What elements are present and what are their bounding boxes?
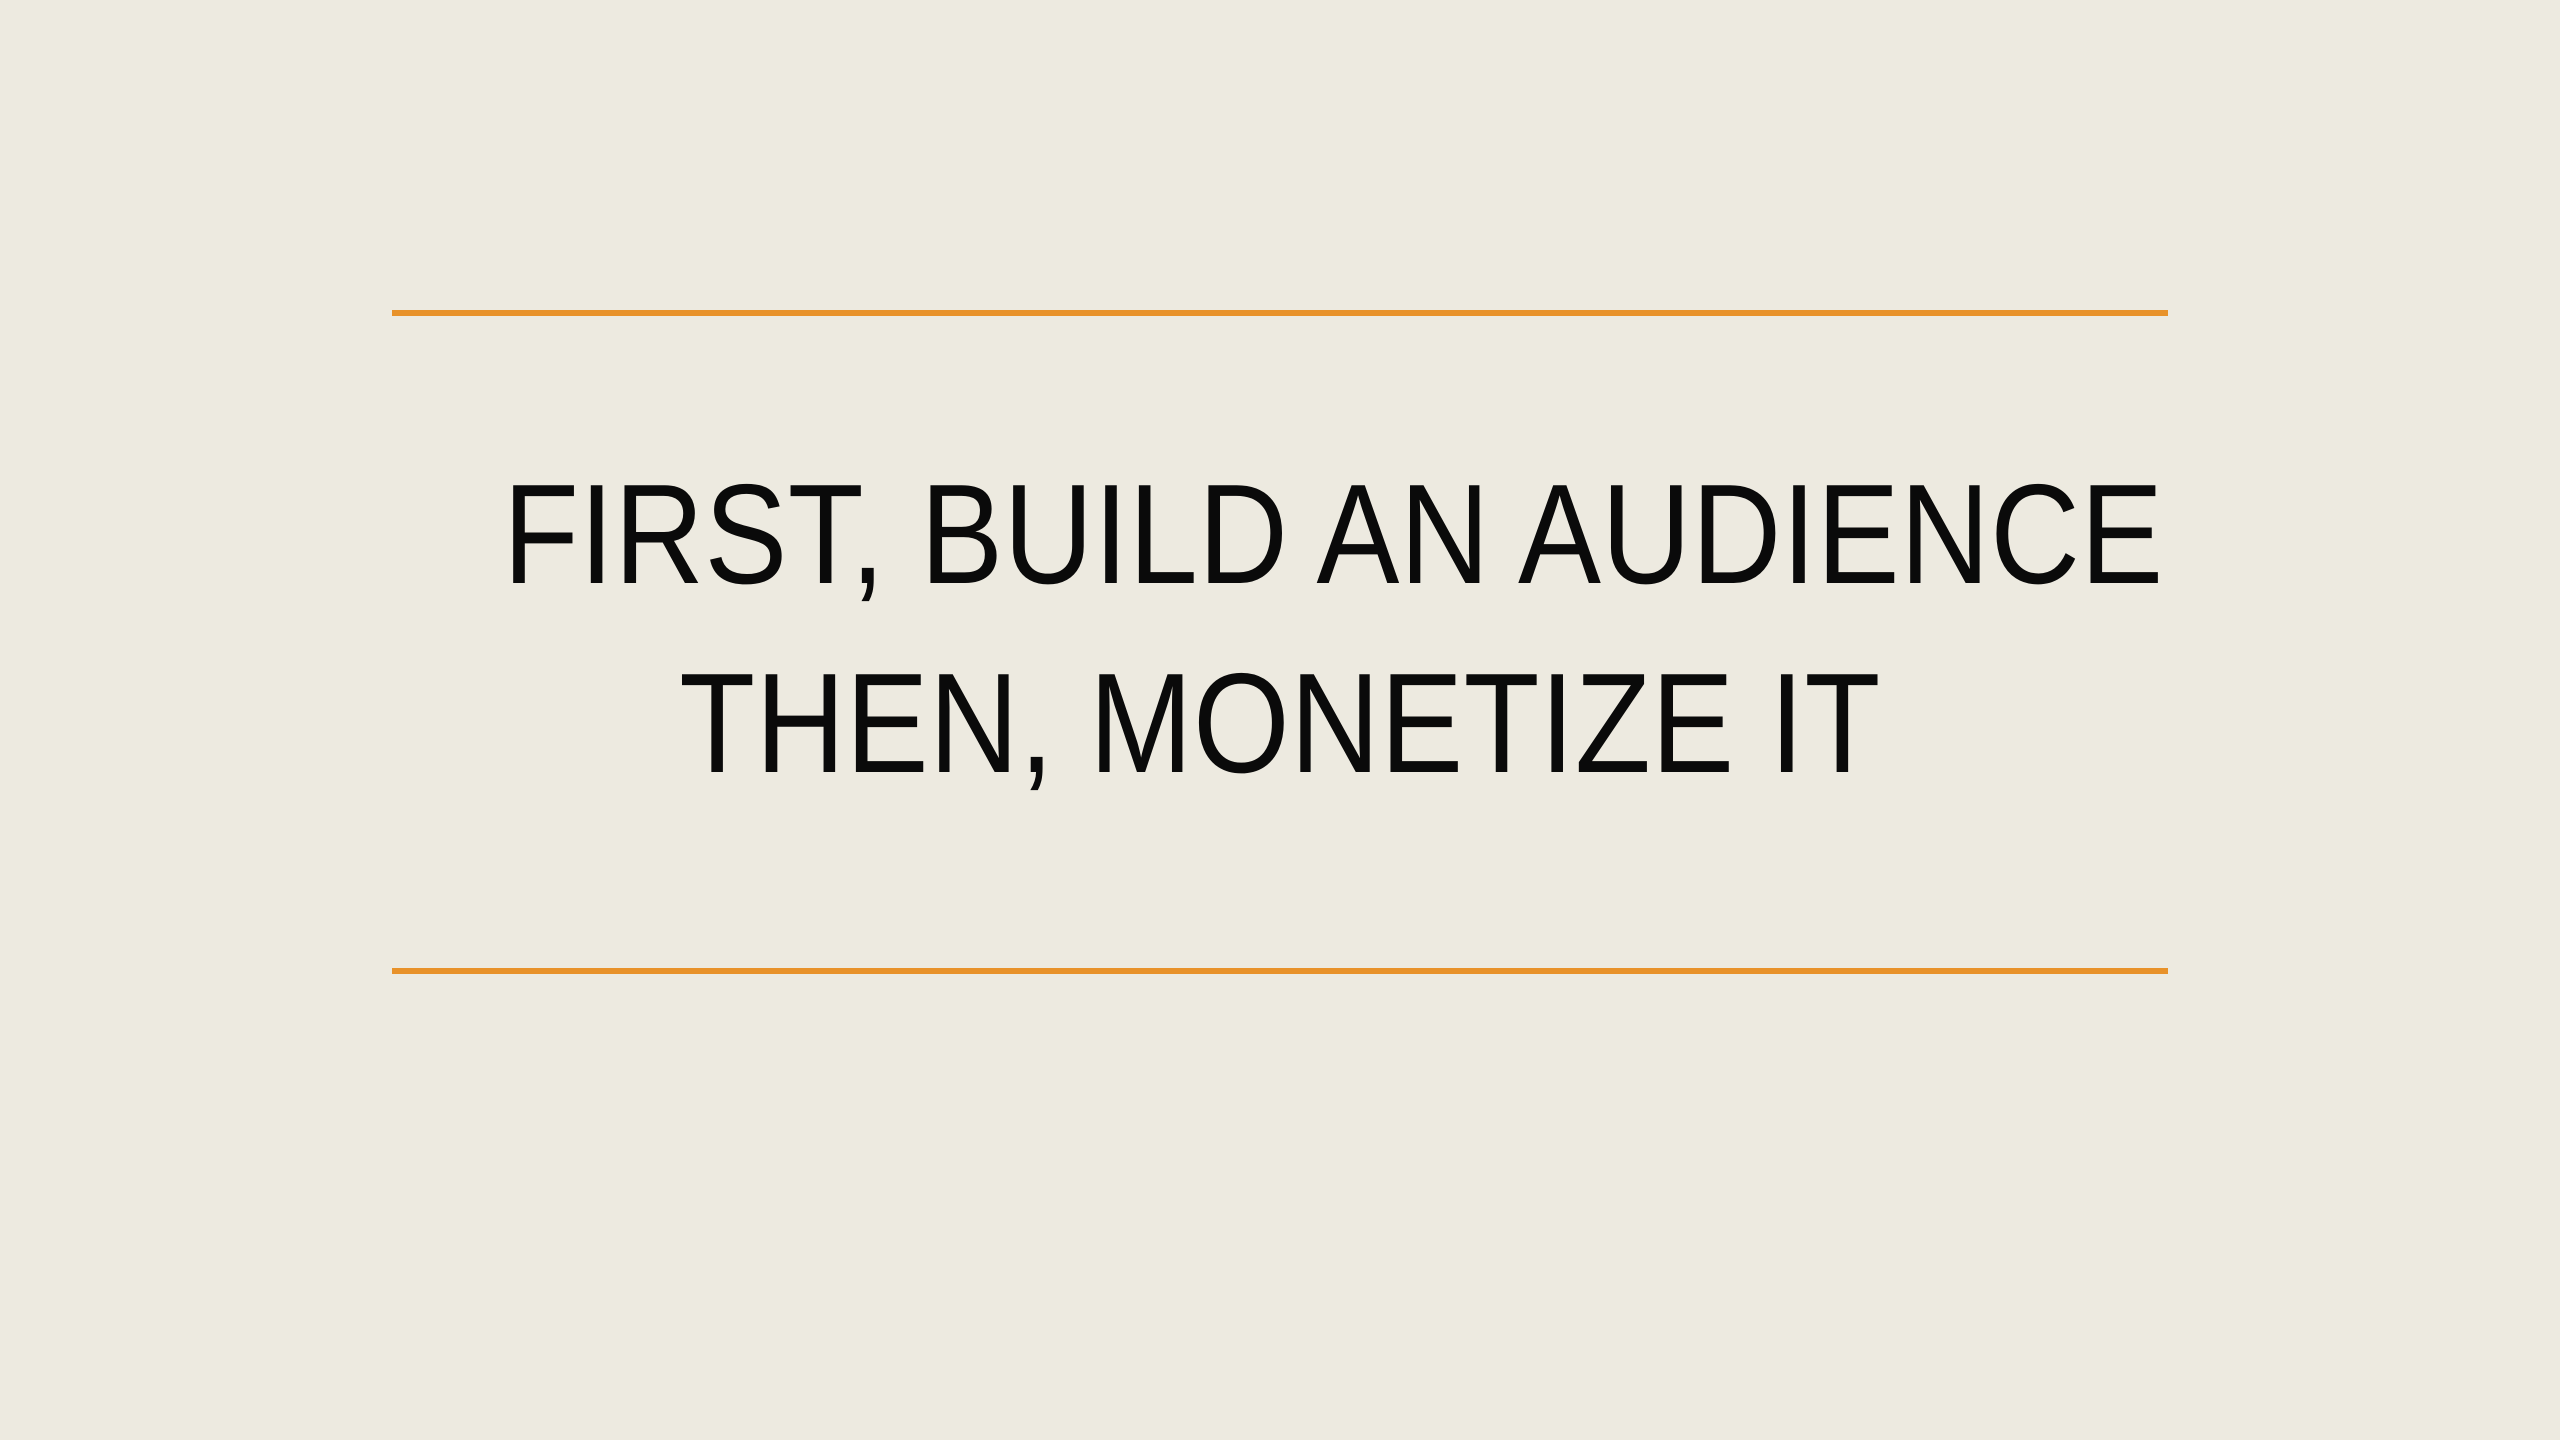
bottom-divider-rule	[392, 968, 2168, 974]
slide-title-line-2: THEN, MONETIZE IT	[503, 629, 2057, 818]
slide-title-block: FIRST, BUILD AN AUDIENCE THEN, MONETIZE …	[392, 430, 2168, 850]
top-divider-rule	[392, 310, 2168, 316]
presentation-slide: FIRST, BUILD AN AUDIENCE THEN, MONETIZE …	[0, 0, 2560, 1440]
slide-title-line-1: FIRST, BUILD AN AUDIENCE	[503, 440, 2057, 629]
